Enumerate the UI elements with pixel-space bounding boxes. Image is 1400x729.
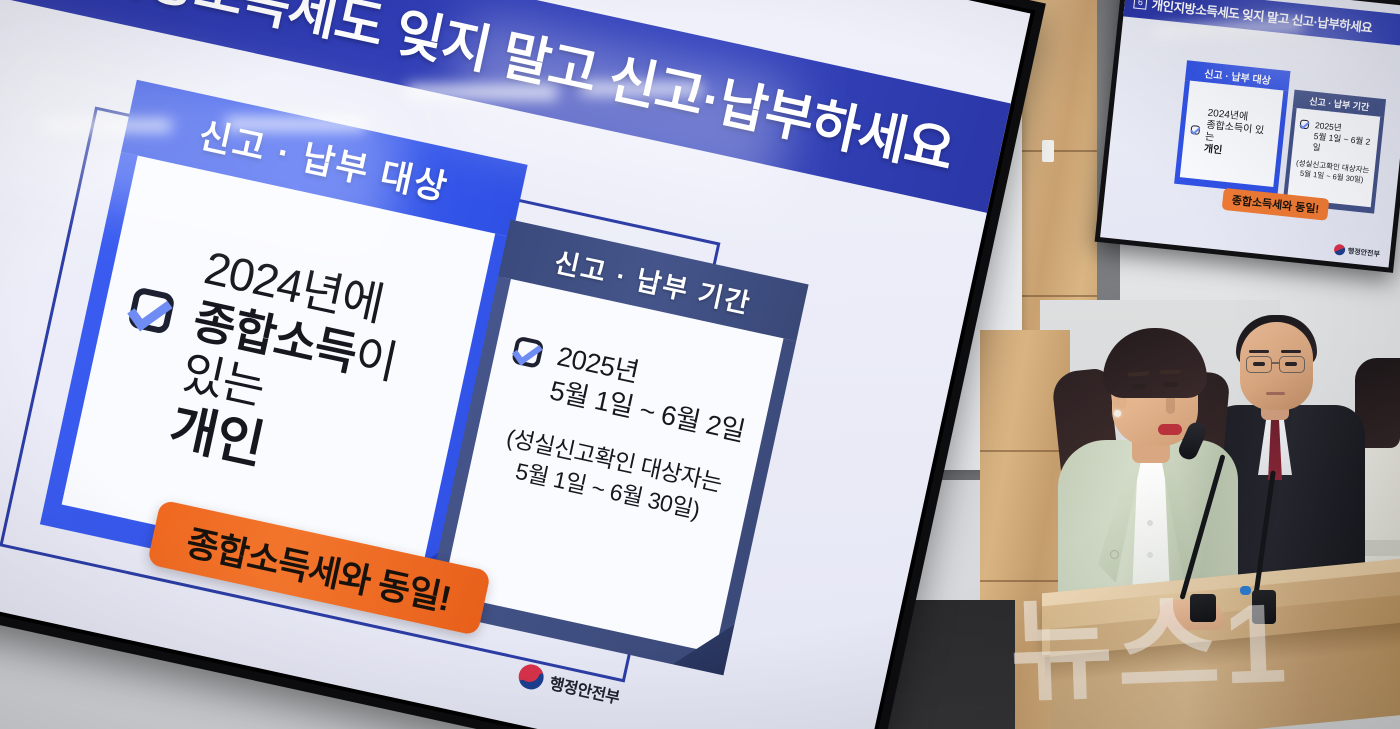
microphone-base-right bbox=[1252, 590, 1276, 624]
official-man-glasses-bridge bbox=[1272, 362, 1280, 364]
left-card-body: 2024년에 종합소득이 있는 개인 bbox=[62, 156, 496, 583]
speaker-lips bbox=[1158, 424, 1182, 435]
speaker-shirt-button-bottom bbox=[1147, 552, 1153, 558]
checkbox-checked-icon bbox=[511, 333, 550, 372]
right-card-body: 2025년 5월 1일 ~ 6월 2일 (성실신고확인 대상자는 5월 1일 ~… bbox=[442, 279, 783, 653]
official-man-mouth bbox=[1266, 392, 1285, 395]
microphone-base-left bbox=[1190, 594, 1216, 622]
speaker-eyebrow-right bbox=[1160, 370, 1181, 374]
secondary-right-line2: 5월 1일 ~ 6월 2일 bbox=[1312, 131, 1373, 159]
slide-number-badge: 6 bbox=[1133, 0, 1147, 10]
main-presentation-display: 개인지방소득세도 잊지 말고 신고·납부하세요 신고 · 납부 대상 bbox=[0, 0, 1046, 729]
speaker-shirt-button-top bbox=[1147, 520, 1153, 526]
press-briefing-photo: 세청 Tax Service 개인지방소득세도 잊지 말고 신고·납부하세요 신… bbox=[0, 0, 1400, 729]
taegeuk-icon bbox=[515, 661, 546, 692]
main-slide: 개인지방소득세도 잊지 말고 신고·납부하세요 신고 · 납부 대상 bbox=[0, 0, 1030, 729]
secondary-slide-title: 개인지방소득세도 잊지 말고 신고·납부하세요 bbox=[1151, 0, 1373, 36]
wall-switch bbox=[1042, 140, 1054, 162]
speaker-eye-left bbox=[1131, 384, 1146, 389]
official-man-glasses-left bbox=[1246, 356, 1272, 373]
microphone-connector bbox=[1240, 586, 1251, 595]
secondary-ministry-logo: 행정안전부 bbox=[1333, 244, 1380, 260]
checkbox-checked-icon bbox=[1190, 124, 1202, 136]
speaker-earring bbox=[1114, 410, 1121, 417]
official-man-glasses-right bbox=[1279, 356, 1305, 373]
official-man-eyebrow-left bbox=[1249, 350, 1269, 353]
speaker-blazer-button bbox=[1110, 550, 1119, 559]
secondary-monitor: 6 개인지방소득세도 잊지 말고 신고·납부하세요 신고 · 납부 대상 202… bbox=[1095, 0, 1400, 273]
secondary-ministry-label: 행정안전부 bbox=[1347, 246, 1380, 259]
official-man-eyebrow-right bbox=[1281, 350, 1301, 353]
secondary-target-card: 신고 · 납부 대상 2024년에 종합소득이 있는 개인 bbox=[1174, 60, 1290, 194]
secondary-slide-title-band: 6 개인지방소득세도 잊지 말고 신고·납부하세요 bbox=[1123, 0, 1400, 47]
taegeuk-icon bbox=[1332, 242, 1347, 257]
speaker-eye-right bbox=[1163, 382, 1178, 387]
checkbox-checked-icon bbox=[1299, 118, 1311, 130]
speaker-nose bbox=[1166, 398, 1175, 414]
checkbox-checked-icon bbox=[127, 282, 183, 338]
secondary-slide: 6 개인지방소득세도 잊지 말고 신고·납부하세요 신고 · 납부 대상 202… bbox=[1100, 0, 1400, 267]
